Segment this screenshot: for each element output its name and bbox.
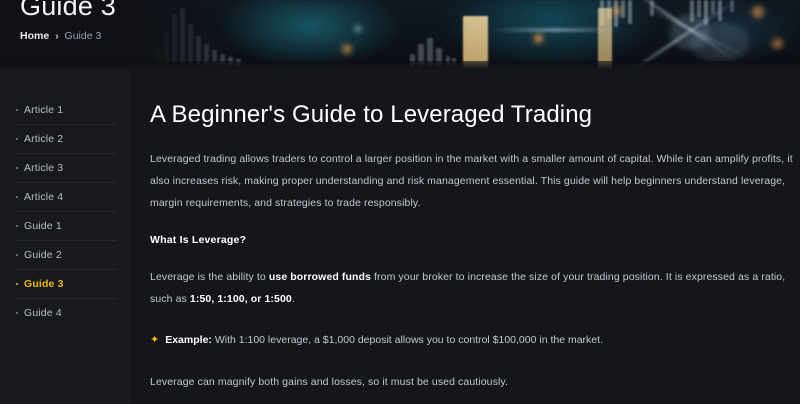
sparkle-icon: ✦ (150, 329, 159, 351)
sidebar-item-label: Article 3 (24, 162, 63, 174)
sidebar-item-guide-1[interactable]: Guide 1 (0, 212, 130, 240)
sidebar-item-label: Guide 1 (24, 220, 62, 232)
example-description: With 1:100 leverage, a $1,000 deposit al… (212, 334, 603, 346)
leverage-text-part-3: . (292, 293, 295, 305)
bullet-icon (16, 196, 18, 198)
sidebar-item-guide-2[interactable]: Guide 2 (0, 241, 130, 269)
heading-what-is-leverage: What Is Leverage? (150, 234, 800, 246)
leverage-definition-paragraph: Leverage is the ability to use borrowed … (150, 266, 798, 310)
header-banner-image (130, 0, 800, 70)
leverage-bold-ratios: 1:50, 1:100, or 1:500 (190, 293, 292, 305)
sidebar-item-label: Article 4 (24, 191, 63, 203)
sidebar-item-label: Guide 2 (24, 249, 62, 261)
article-title: A Beginner's Guide to Leveraged Trading (150, 101, 800, 129)
example-label: Example: (165, 334, 212, 346)
leverage-text-part-1: Leverage is the ability to (150, 271, 269, 283)
sidebar-item-label: Article 2 (24, 133, 63, 145)
example-text-wrap: Example: With 1:100 leverage, a $1,000 d… (165, 329, 603, 351)
sidebar-item-article-1[interactable]: Article 1 (0, 96, 130, 124)
bullet-icon (16, 109, 18, 111)
bullet-icon (16, 138, 18, 140)
breadcrumb-current: Guide 3 (65, 30, 102, 42)
sidebar-item-guide-4[interactable]: Guide 4 (0, 299, 130, 327)
sidebar-item-article-2[interactable]: Article 2 (0, 125, 130, 153)
example-callout: ✦ Example: With 1:100 leverage, a $1,000… (150, 329, 800, 351)
bullet-icon (16, 254, 18, 256)
bullet-icon (16, 167, 18, 169)
article-content: A Beginner's Guide to Leveraged Trading … (130, 70, 800, 404)
sidebar-item-label: Guide 4 (24, 307, 62, 319)
leverage-bold-borrowed-funds: use borrowed funds (269, 271, 371, 283)
sidebar-item-label: Article 1 (24, 104, 63, 116)
sidebar-item-article-3[interactable]: Article 3 (0, 154, 130, 182)
sidebar-nav: Article 1 Article 2 Article 3 Article 4 … (0, 70, 130, 404)
banner-bottom-fade (0, 61, 800, 70)
article-intro-paragraph: Leveraged trading allows traders to cont… (150, 148, 798, 214)
sidebar-item-article-4[interactable]: Article 4 (0, 183, 130, 211)
page-header: Guide 3 Home › Guide 3 (0, 0, 800, 70)
banner-chart-bars (130, 0, 800, 70)
breadcrumb: Home › Guide 3 (20, 30, 101, 42)
bullet-icon (16, 225, 18, 227)
bullet-icon (16, 283, 18, 285)
bullet-icon (16, 312, 18, 314)
chevron-right-icon: › (55, 31, 58, 42)
guide-page: Guide 3 Home › Guide 3 Article 1 Article… (0, 0, 800, 404)
breadcrumb-home-link[interactable]: Home (20, 30, 49, 42)
page-title: Guide 3 (20, 0, 116, 22)
caution-paragraph: Leverage can magnify both gains and loss… (150, 371, 798, 393)
sidebar-item-label: Guide 3 (24, 278, 64, 290)
sidebar-item-guide-3[interactable]: Guide 3 (0, 270, 130, 298)
